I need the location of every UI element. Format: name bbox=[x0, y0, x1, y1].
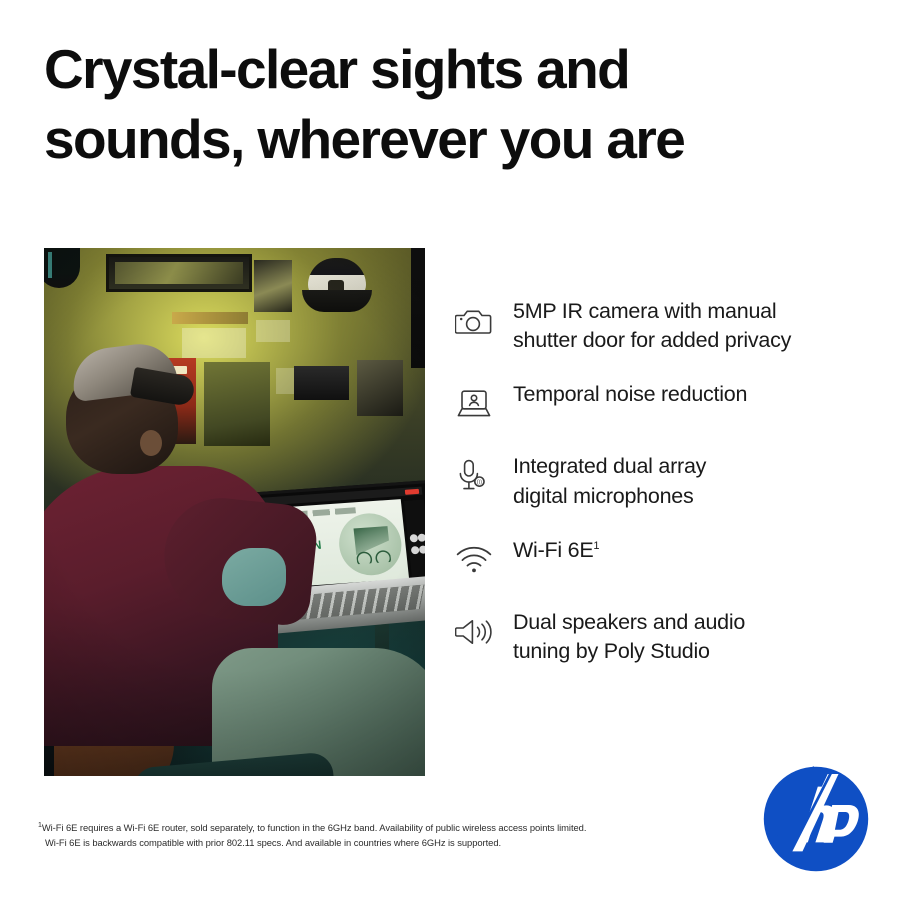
camera-icon bbox=[455, 296, 513, 344]
feature-text-line-1: Temporal noise reduction bbox=[513, 382, 747, 406]
list-item: 5MP IR camera with manual shutter door f… bbox=[455, 296, 875, 355]
list-item-label: Integrated dual array digital microphone… bbox=[513, 451, 706, 510]
list-item-label: 5MP IR camera with manual shutter door f… bbox=[513, 296, 791, 355]
list-item: ()) Integrated dual array digital microp… bbox=[455, 451, 875, 510]
lifestyle-photo: GREEN GEAR bbox=[44, 248, 425, 776]
laptop-person-icon bbox=[455, 379, 513, 427]
photo-scene: GREEN GEAR bbox=[44, 248, 425, 776]
footnote-line-1: Wi-Fi 6E requires a Wi-Fi 6E router, sol… bbox=[42, 822, 587, 833]
list-item-label: Temporal noise reduction bbox=[513, 379, 747, 409]
list-item: Dual speakers and audio tuning by Poly S… bbox=[455, 607, 875, 666]
microphone-icon: ()) bbox=[455, 451, 513, 499]
svg-text:()): ()) bbox=[477, 480, 482, 486]
feature-text-line-2: digital microphones bbox=[513, 484, 694, 508]
list-item: Temporal noise reduction bbox=[455, 379, 875, 427]
footnote-line-2: Wi-Fi 6E is backwards compatible with pr… bbox=[38, 835, 738, 850]
page-title-line-2: sounds, wherever you are bbox=[44, 104, 804, 174]
wifi-icon bbox=[455, 535, 513, 583]
feature-text-line-1: Wi-Fi 6E bbox=[513, 538, 593, 562]
page-title: Crystal-clear sights and sounds, whereve… bbox=[44, 34, 804, 175]
feature-text-line-2: tuning by Poly Studio bbox=[513, 639, 710, 663]
page-title-line-1: Crystal-clear sights and bbox=[44, 34, 804, 104]
feature-text-line-1: Integrated dual array bbox=[513, 454, 706, 478]
hp-logo-mark bbox=[762, 765, 870, 873]
feature-text-line-2: shutter door for added privacy bbox=[513, 328, 791, 352]
list-item: Wi-Fi 6E1 bbox=[455, 535, 875, 583]
list-item-label: Dual speakers and audio tuning by Poly S… bbox=[513, 607, 745, 666]
feature-text-line-1: Dual speakers and audio bbox=[513, 610, 745, 634]
footnote: 1Wi-Fi 6E requires a Wi-Fi 6E router, so… bbox=[38, 820, 738, 850]
footnote-marker: 1 bbox=[593, 540, 599, 552]
list-item-label: Wi-Fi 6E1 bbox=[513, 535, 599, 565]
speaker-icon bbox=[455, 607, 513, 655]
feature-text-line-1: 5MP IR camera with manual bbox=[513, 299, 776, 323]
feature-list: 5MP IR camera with manual shutter door f… bbox=[455, 296, 875, 666]
photo-vignette bbox=[44, 248, 425, 776]
hp-logo bbox=[762, 765, 870, 873]
